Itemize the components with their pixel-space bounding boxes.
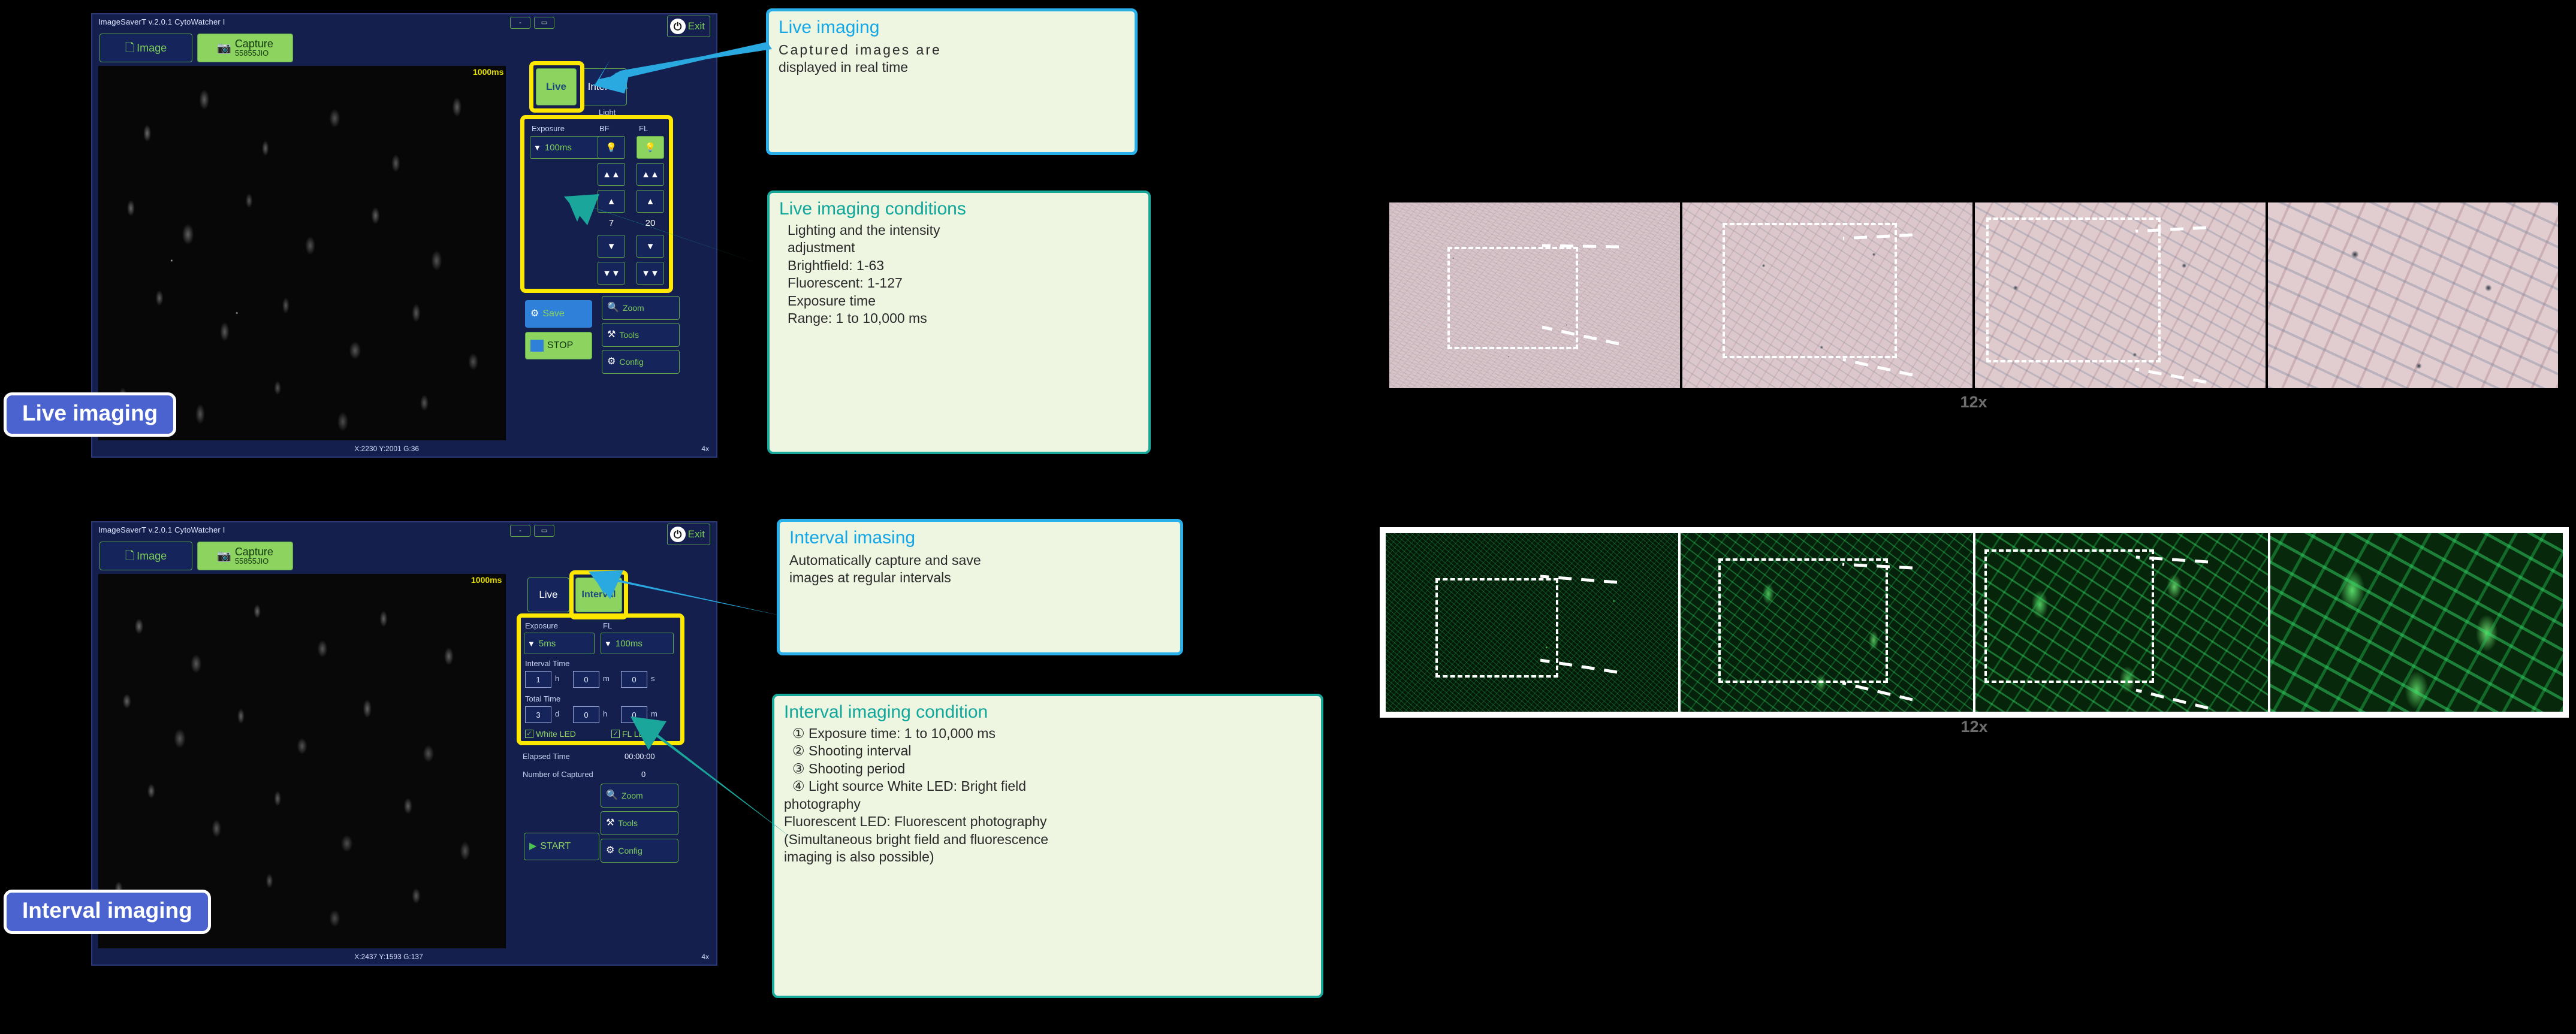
power-icon: ⏻	[670, 527, 686, 542]
interval-imaging-badge: Interval imaging	[4, 890, 211, 934]
exit-button[interactable]: ⏻ Exit	[667, 524, 710, 545]
capture-button-label: Capture	[235, 38, 273, 49]
image-button[interactable]: 🗋 Image	[99, 34, 192, 62]
zoom-connector-lines	[1389, 202, 2558, 388]
viewport-exposure-tag: 1000ms	[471, 575, 714, 585]
callout-line: adjustment	[779, 239, 1139, 256]
start-label: START	[540, 841, 571, 852]
number-captured-value: 0	[641, 770, 645, 779]
zoom-label: Zoom	[622, 791, 643, 800]
window-controls: - ▭	[510, 525, 554, 537]
viewport-exposure-tag: 1000ms	[473, 67, 714, 77]
tools-label: Tools	[618, 818, 638, 828]
camera-icon: 📷	[217, 551, 231, 562]
power-icon: ⏻	[670, 19, 686, 34]
exit-label: Exit	[688, 528, 705, 540]
interval-imaging-callout: Interval imasing Automatically capture a…	[777, 519, 1183, 655]
cursor-coordinates: X:2437 Y:1593 G:137	[354, 953, 423, 961]
callout-line: ① Exposure time: 1 to 10,000 ms	[784, 725, 1311, 742]
capture-button-label: Capture	[235, 546, 273, 557]
cursor-coordinates: X:2230 Y:2001 G:36	[354, 445, 419, 453]
callout-line: imaging is also possible)	[784, 848, 1311, 866]
maximize-button[interactable]: ▭	[534, 17, 554, 29]
callout-line: Fluorescent LED: Fluorescent photography	[784, 813, 1311, 830]
magnification-label: 4x	[701, 445, 709, 453]
config-button[interactable]: ⚙ Config	[602, 350, 680, 374]
zoom-connector-lines	[1386, 533, 2563, 712]
callout-line: images at regular intervals	[789, 569, 1171, 586]
magnification-label: 4x	[701, 953, 709, 961]
tools-label: Tools	[619, 330, 639, 340]
callout-line: ③ Shooting period	[784, 760, 1311, 778]
callout-title: Interval imasing	[789, 528, 1171, 548]
live-status-bar: X:2230 Y:2001 G:36 4x	[92, 442, 716, 456]
fluorescent-zoom-strip: 12x	[1386, 533, 2563, 712]
interval-settings-highlight-ring	[517, 613, 684, 745]
tools-icon: ⚒	[607, 330, 616, 340]
download-icon: ⚙	[530, 309, 539, 319]
tools-button[interactable]: ⚒ Tools	[602, 323, 680, 347]
gear-icon: ⚙	[606, 846, 614, 855]
window-controls: - ▭	[510, 17, 554, 29]
zoom-icon: 🔍	[606, 791, 618, 800]
callout-line: Automatically capture and save	[789, 552, 1171, 569]
start-button[interactable]: ▶ START	[524, 833, 599, 860]
config-label: Config	[619, 357, 643, 367]
save-label: Save	[542, 309, 564, 319]
config-label: Config	[618, 846, 642, 855]
callout-line: Brightfield: 1-63	[779, 257, 1139, 274]
live-imaging-callout: Live imaging Captured images are display…	[766, 8, 1138, 155]
live-image-viewport[interactable]	[98, 66, 506, 440]
callout-line: Range: 1 to 10,000 ms	[779, 310, 1139, 327]
stop-button[interactable]: STOP	[525, 332, 592, 359]
fluorescent-magnification-label: 12x	[1960, 718, 1987, 736]
window-title: ImageSaverT v.2.0.1 CytoWatcher I	[92, 14, 716, 30]
camera-icon: 📷	[217, 43, 231, 54]
gear-icon: ⚙	[607, 357, 616, 367]
elapsed-time-label: Elapsed Time	[523, 752, 570, 761]
callout-title: Live imaging conditions	[779, 199, 1139, 219]
capture-button-id: 55855JIO	[235, 49, 269, 58]
live-imaging-badge: Live imaging	[4, 392, 176, 437]
brightfield-zoom-strip: 12x	[1389, 202, 2558, 388]
image-stack-icon: 🗋	[125, 43, 134, 54]
callout-line: Exposure time	[779, 292, 1139, 310]
interval-status-bar: X:2437 Y:1593 G:137 4x	[92, 950, 716, 965]
zoom-icon: 🔍	[607, 303, 619, 313]
stop-label: STOP	[547, 340, 573, 351]
capture-button[interactable]: 📷 Capture 55855JIO	[197, 34, 293, 62]
callout-line: ② Shooting interval	[784, 742, 1311, 760]
maximize-button[interactable]: ▭	[534, 525, 554, 537]
callout-line: Fluorescent: 1-127	[779, 274, 1139, 292]
capture-button[interactable]: 📷 Capture 55855JIO	[197, 542, 293, 570]
zoom-label: Zoom	[623, 303, 644, 313]
zoom-button[interactable]: 🔍 Zoom	[602, 296, 680, 320]
callout-line: displayed in real time	[779, 59, 1125, 76]
image-button-label: Image	[137, 551, 167, 561]
live-conditions-callout: Live imaging conditions Lighting and the…	[767, 191, 1151, 454]
image-button[interactable]: 🗋 Image	[99, 542, 192, 570]
image-stack-icon: 🗋	[125, 551, 134, 562]
config-button[interactable]: ⚙ Config	[601, 839, 678, 863]
save-button[interactable]: ⚙ Save	[525, 300, 592, 328]
live-imaging-app-window: ImageSaverT v.2.0.1 CytoWatcher I - ▭ ⏻ …	[91, 13, 717, 458]
minimize-button[interactable]: -	[510, 17, 530, 29]
interval-conditions-callout: Interval imaging condition ① Exposure ti…	[772, 694, 1323, 998]
callout-line: Captured images are	[779, 41, 1125, 59]
number-captured-label: Number of Captured	[523, 770, 593, 779]
exit-button[interactable]: ⏻ Exit	[667, 16, 710, 37]
callout-line: photography	[784, 796, 1311, 813]
light-panel-highlight-ring	[520, 115, 673, 293]
play-icon: ▶	[529, 842, 536, 851]
callout-title: Live imaging	[779, 17, 1125, 38]
brightfield-magnification-label: 12x	[1960, 393, 1987, 412]
window-title: ImageSaverT v.2.0.1 CytoWatcher I	[92, 522, 716, 538]
callout-line: Lighting and the intensity	[779, 222, 1139, 239]
callout-line: (Simultaneous bright field and fluoresce…	[784, 831, 1311, 848]
tools-icon: ⚒	[606, 818, 614, 828]
tools-button[interactable]: ⚒ Tools	[601, 811, 678, 835]
image-button-label: Image	[137, 43, 167, 53]
minimize-button[interactable]: -	[510, 525, 530, 537]
capture-button-id: 55855JIO	[235, 557, 269, 566]
zoom-button[interactable]: 🔍 Zoom	[601, 784, 678, 808]
elapsed-time-value: 00:00:00	[625, 752, 655, 761]
live-cell-image	[98, 66, 506, 440]
callout-line: ④ Light source White LED: Bright field	[784, 778, 1311, 795]
exit-label: Exit	[688, 20, 705, 32]
stop-square-icon	[530, 340, 544, 352]
callout-title: Interval imaging condition	[784, 702, 1311, 722]
